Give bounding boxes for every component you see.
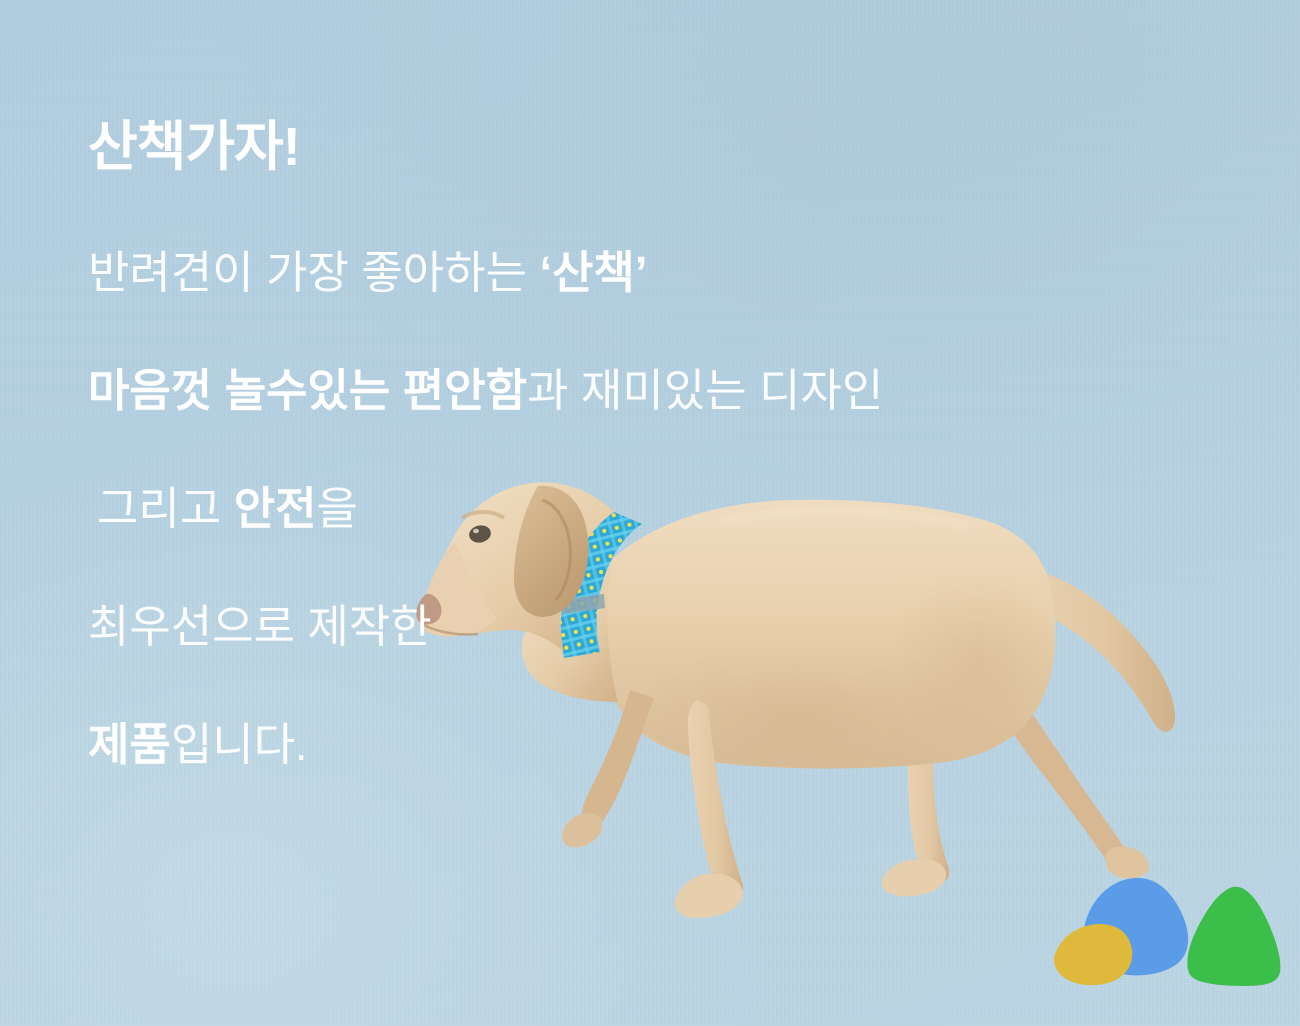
copy-block: 산책가자! 반려견이 가장 좋아하는 ‘산책’ 마음껏 놀수있는 편안함과 재미… [88, 118, 1178, 767]
body-text-emphasis: ‘산책’ [540, 247, 648, 298]
body-line-4: 최우선으로 제작한 [88, 604, 1178, 649]
gold-blob-icon [1054, 924, 1132, 985]
green-blob-icon [1187, 887, 1280, 986]
promo-banner: 산책가자! 반려견이 가장 좋아하는 ‘산책’ 마음껏 놀수있는 편안함과 재미… [0, 0, 1300, 1026]
body-text: 반려견이 가장 좋아하는 [88, 247, 540, 298]
body-line-1: 반려견이 가장 좋아하는 ‘산책’ [88, 250, 1178, 295]
dog-front-paw-far [562, 813, 602, 847]
body-text: 과 재미있는 디자인 [527, 365, 883, 416]
dog-front-paw-near [675, 874, 743, 918]
body-text: 최우선으로 제작한 [88, 601, 432, 652]
body-text-emphasis: 제품 [88, 719, 171, 770]
body-text: 을 [317, 483, 358, 534]
body-text-emphasis: 마음껏 놀수있는 편안함 [88, 365, 527, 416]
dog-rear-paw-near [882, 860, 946, 896]
body-line-5: 제품입니다. [88, 722, 1178, 767]
body-text-emphasis: 안전 [234, 483, 317, 534]
brand-logo [1046, 868, 1290, 996]
body-line-2: 마음껏 놀수있는 편안함과 재미있는 디자인 [88, 368, 1178, 413]
body-line-3: 그리고 안전을 [88, 486, 1178, 531]
body-text: 입니다. [171, 719, 308, 770]
page-title: 산책가자! [88, 118, 1178, 176]
body-text: 그리고 [97, 483, 234, 534]
